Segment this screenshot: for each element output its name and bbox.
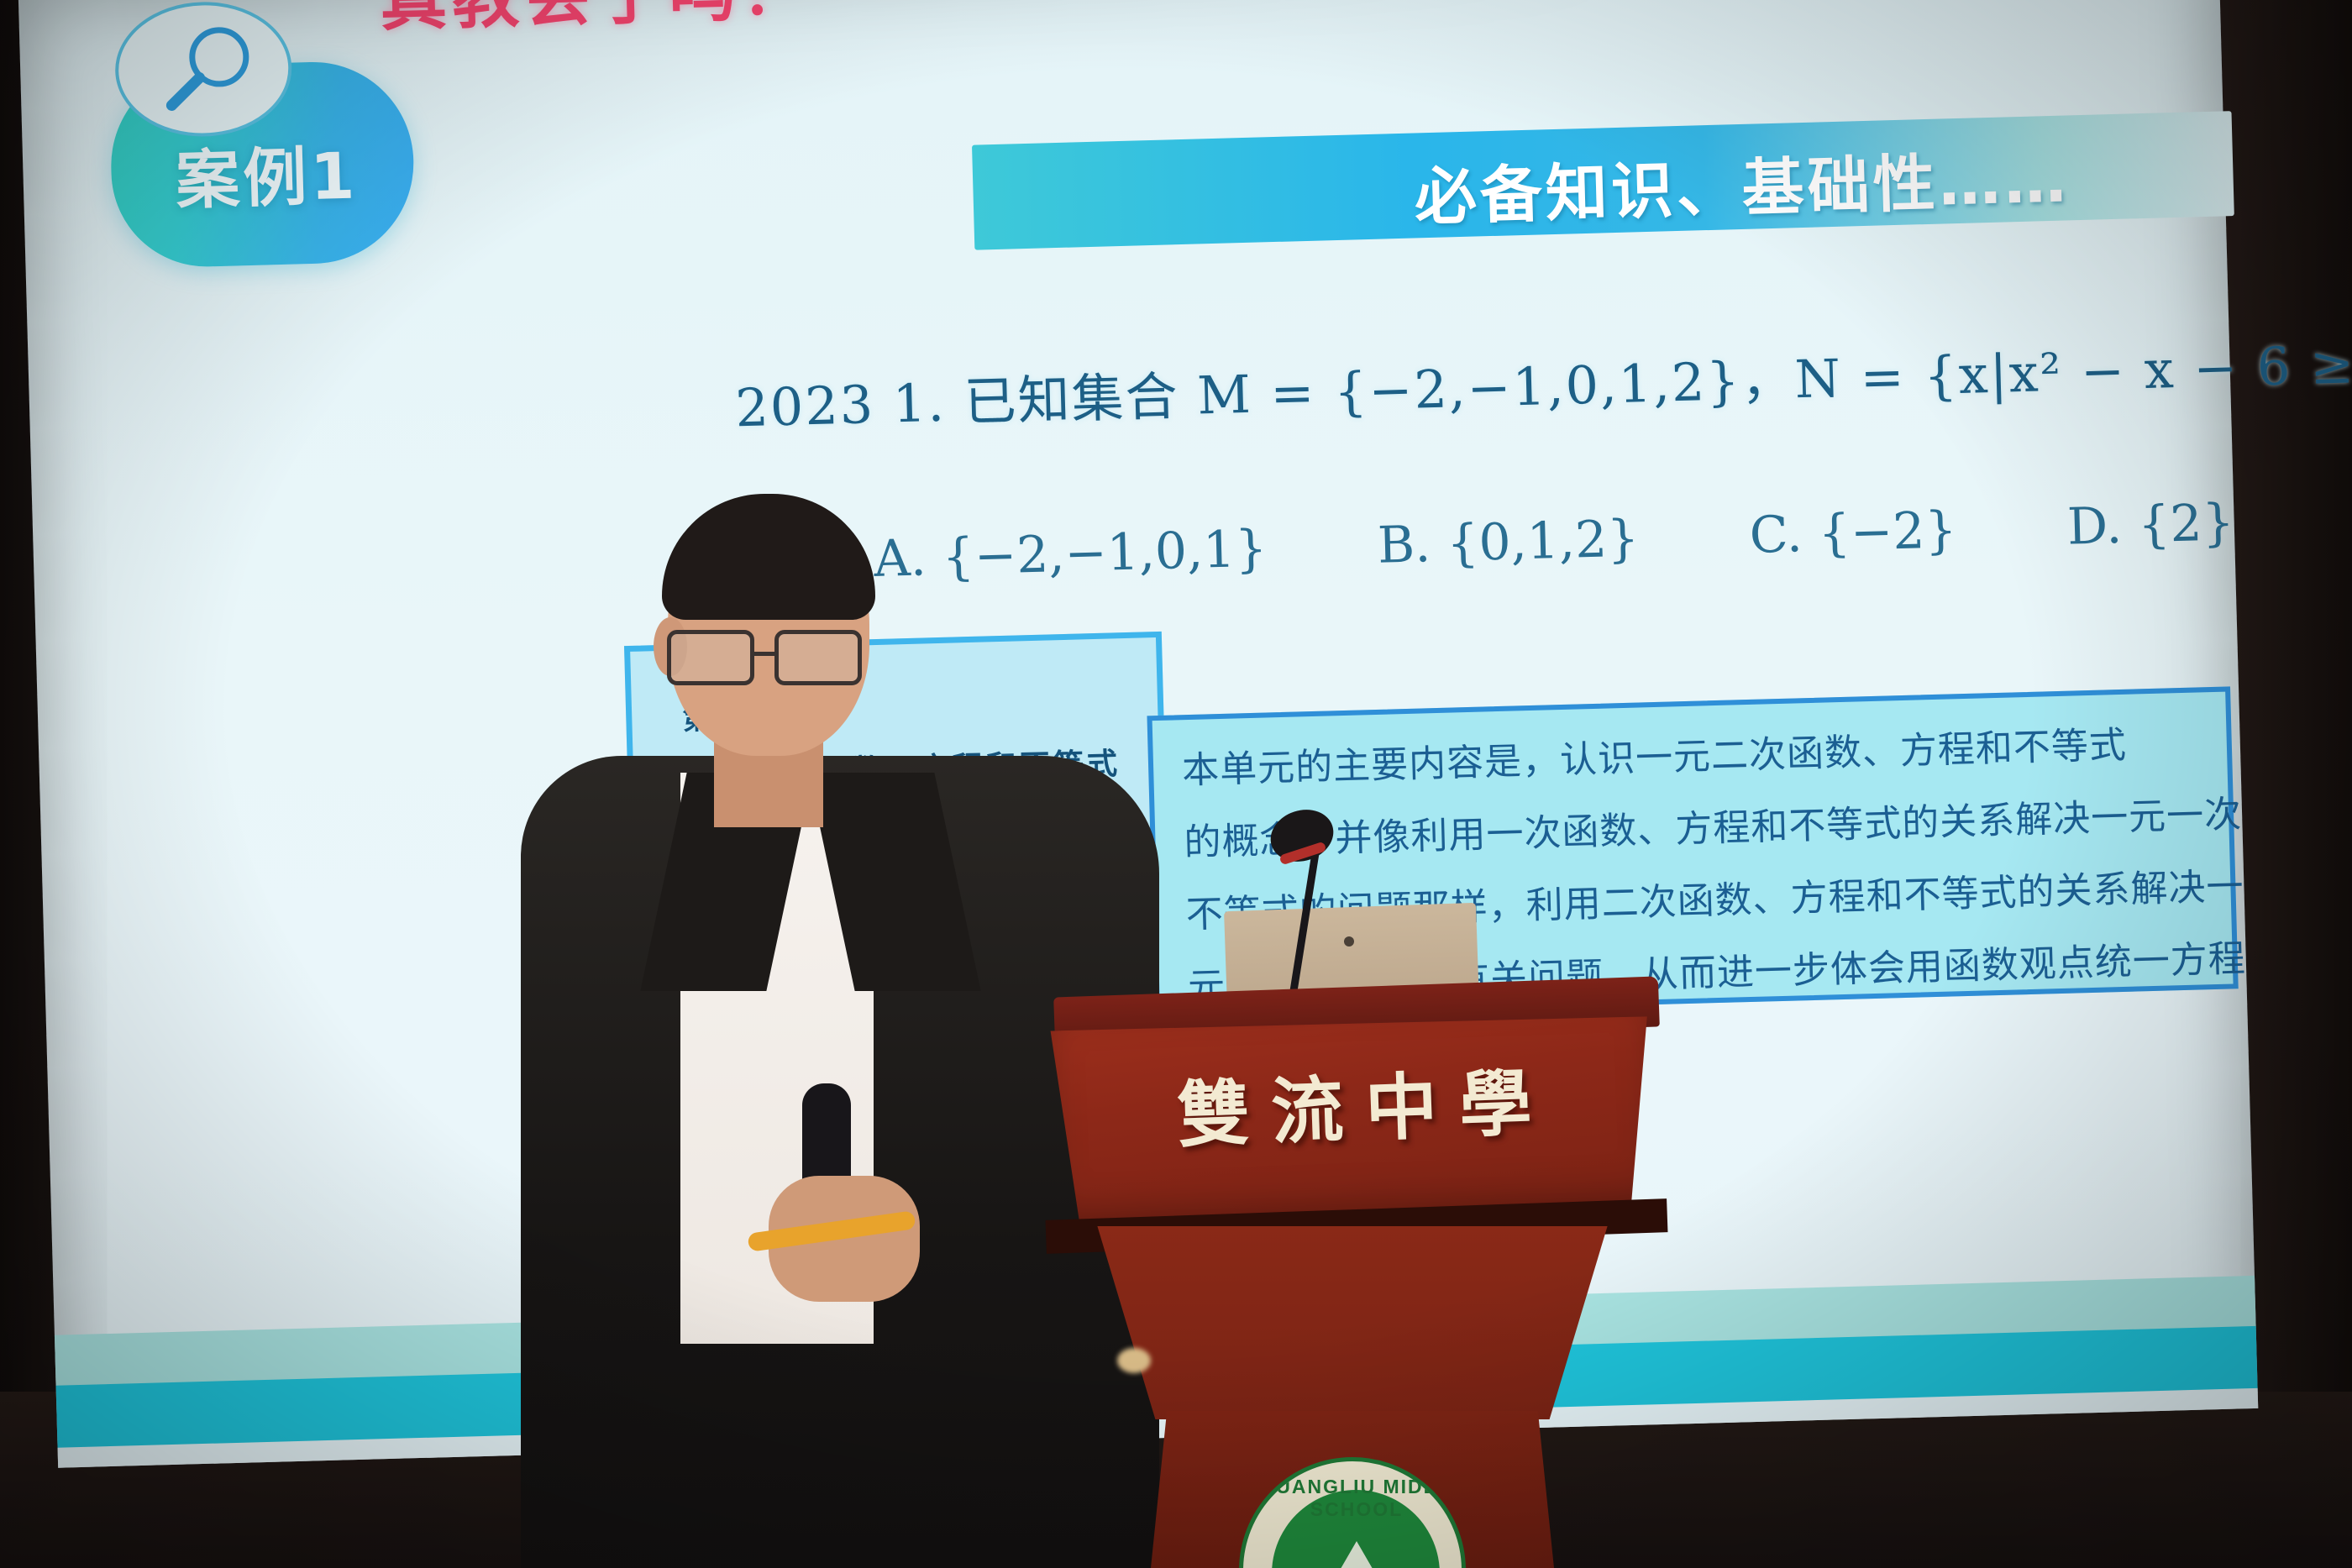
glasses-lens-right	[774, 630, 862, 685]
laptop-camera	[1344, 936, 1354, 947]
speaker-hair	[662, 494, 875, 620]
photo-scene: 真教会了吗？ 案例1 必备知识、基础性…… 2023 1. 已知集合 M = {…	[0, 0, 2352, 1568]
podium-light	[1117, 1348, 1151, 1373]
case-badge-label: 案例1	[135, 123, 398, 222]
option-b: B. {0,1,2}	[1377, 509, 1640, 574]
emblem-label: SHUANGLIU MIDDLE SCHOOL	[1243, 1476, 1466, 1521]
speaker-glasses	[665, 630, 875, 689]
podium-school-name: 雙流中學	[1128, 1041, 1602, 1162]
podium-column	[1063, 1226, 1642, 1419]
quote-line-2: 的概念，并像利用一次函数、方程和不等式的关系解决一元一次	[1184, 784, 2243, 866]
speaker-person	[588, 504, 1109, 1568]
heading-bar-label: 必备知识、基础性……	[1413, 129, 2071, 237]
problem-statement: 2023 1. 已知集合 M = {−2,−1,0,1,2}，N = {x|x²…	[734, 311, 2352, 442]
option-c: C. {−2}	[1749, 501, 1958, 565]
quote-line-1: 本单元的主要内容是，认识一元二次函数、方程和不等式	[1181, 715, 2127, 794]
slide-question-title: 真教会了吗？	[378, 0, 814, 45]
glasses-bridge	[754, 652, 778, 656]
glasses-lens-left	[667, 630, 754, 685]
option-d: D. {2}	[2066, 493, 2234, 556]
